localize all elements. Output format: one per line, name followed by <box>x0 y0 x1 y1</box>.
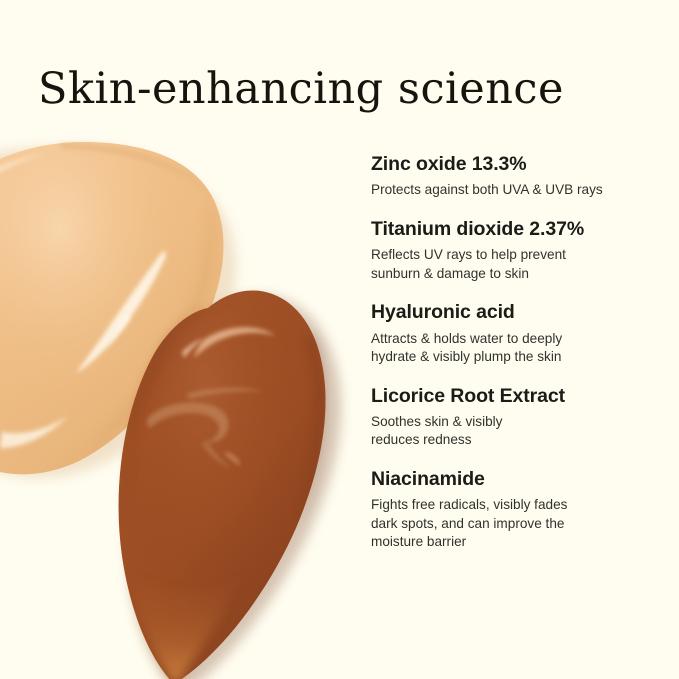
ingredient-description: Fights free radicals, visibly fades dark… <box>371 496 661 551</box>
page-title: Skin-enhancing science <box>38 65 648 114</box>
deep-shade-swatch-group <box>119 290 341 679</box>
ingredient-item-titanium-dioxide: Titanium dioxide 2.37% Reflects UV rays … <box>371 217 661 283</box>
ingredient-name: Niacinamide <box>371 467 661 491</box>
ingredient-name: Hyaluronic acid <box>371 300 661 324</box>
ingredient-item-zinc-oxide: Zinc oxide 13.3% Protects against both U… <box>371 152 661 200</box>
ingredient-item-licorice-root-extract: Licorice Root Extract Soothes skin & vis… <box>371 384 661 450</box>
product-ingredient-infographic: Skin-enhancing science <box>0 0 679 679</box>
ingredient-description: Reflects UV rays to help prevent sunburn… <box>371 246 661 283</box>
ingredient-item-niacinamide: Niacinamide Fights free radicals, visibl… <box>371 467 661 552</box>
ingredient-name: Zinc oxide 13.3% <box>371 152 661 176</box>
ingredient-list: Zinc oxide 13.3% Protects against both U… <box>371 152 661 552</box>
ingredient-description: Attracts & holds water to deeply hydrate… <box>371 330 661 367</box>
ingredient-name: Titanium dioxide 2.37% <box>371 217 661 241</box>
ingredient-description: Soothes skin & visibly reduces redness <box>371 413 661 450</box>
ingredient-item-hyaluronic-acid: Hyaluronic acid Attracts & holds water t… <box>371 300 661 366</box>
ingredient-description: Protects against both UVA & UVB rays <box>371 181 661 199</box>
ingredient-name: Licorice Root Extract <box>371 384 661 408</box>
light-shade-swatch-group <box>0 142 236 478</box>
